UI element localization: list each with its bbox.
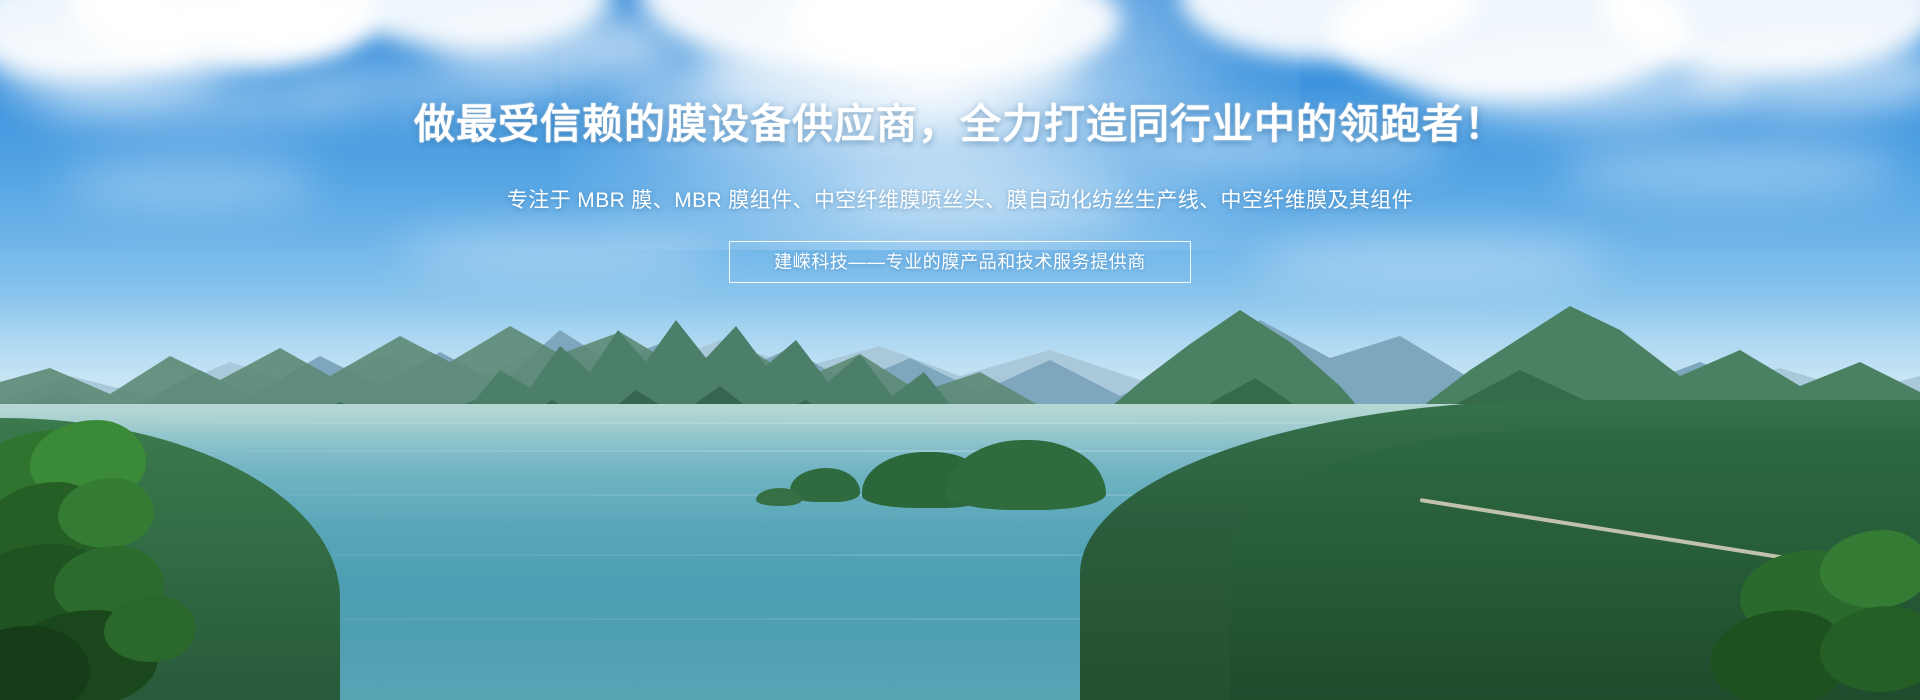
banner-tagline-box: 建嵘科技——专业的膜产品和技术服务提供商 bbox=[729, 241, 1191, 283]
banner-tagline-wrapper: 建嵘科技——专业的膜产品和技术服务提供商 bbox=[0, 241, 1920, 283]
banner-copy: 做最受信赖的膜设备供应商，全力打造同行业中的领跑者！ 专注于 MBR 膜、MBR… bbox=[0, 0, 1920, 700]
hero-banner: 做最受信赖的膜设备供应商，全力打造同行业中的领跑者！ 专注于 MBR 膜、MBR… bbox=[0, 0, 1920, 700]
banner-headline: 做最受信赖的膜设备供应商，全力打造同行业中的领跑者！ bbox=[0, 98, 1920, 150]
banner-subtitle: 专注于 MBR 膜、MBR 膜组件、中空纤维膜喷丝头、膜自动化纺丝生产线、中空纤… bbox=[0, 186, 1920, 216]
